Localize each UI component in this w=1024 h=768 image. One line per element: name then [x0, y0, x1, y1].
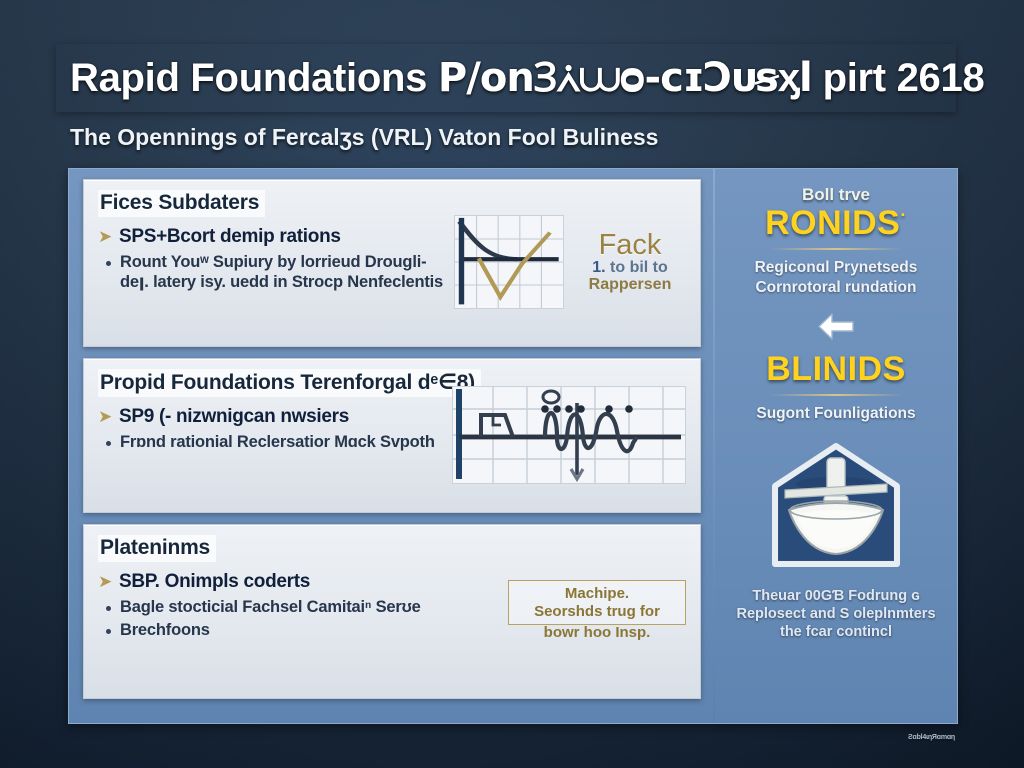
title-band: Rapid Foundations P/onꞫ⩑⩊ᴑ-cɪϽᴜꞩᶍl pirt …	[56, 44, 956, 112]
gold-box-line1: Machipe.	[515, 585, 679, 603]
line-chart-svg	[455, 216, 563, 308]
side-block-primary: Boll trve RONIDS· Regiconɑl Prynetseds C…	[755, 185, 918, 297]
side-caption-line3: the fcar contincl	[736, 623, 935, 641]
note-headline: Fack	[574, 230, 686, 260]
card-heading: Plateninms	[98, 535, 216, 562]
card-bullet-list: Rount Youʷ Supiury by lorrieud Drougli-d…	[98, 253, 454, 293]
content-column: Fices Subdaters ➤ SPS+Bcort demip ration…	[69, 169, 713, 723]
illustration-svg	[767, 440, 905, 572]
side-headline-1: RONIDS·	[755, 206, 918, 242]
side-sub-2: Sugont Founligations	[756, 404, 915, 424]
card-bullet-list: Frɒnd rationial Reclersatior Mɑck Svpoth	[98, 433, 452, 453]
side-panel: Boll trve RONIDS· Regiconɑl Prynetseds C…	[715, 169, 957, 723]
note-lowline: Rappersen	[574, 277, 686, 294]
card-aside: Fack 1. to bil to Rappersen	[454, 190, 686, 334]
side-kicker: Boll trve	[755, 185, 918, 205]
page-subtitle: The Opennings of Fercalʒs (VRL) Vaton Fo…	[70, 124, 658, 151]
side-caption-line2: Replosect and S oleplnmters	[736, 605, 935, 623]
gold-box-line3: bowr hoo Insp.	[509, 624, 685, 642]
card-text-block: Plateninms ➤ SBP. Onimpls coderts Bagle …	[98, 535, 508, 686]
list-item: Brechfoons	[98, 621, 508, 641]
card-lead-text: SBP. Onimpls coderts	[119, 571, 310, 593]
card-heading: Propid Foundations Terenforgal dᵉ∈8)	[98, 369, 481, 397]
list-item: Bagle stocticial Fachsel Camitaiⁿ Serʊe	[98, 598, 508, 618]
note-midline: 1. to bil to	[574, 260, 686, 277]
side-sub-1-line1: Regiconɑl Prynetseds	[755, 258, 918, 278]
side-headline-1-mark: ·	[900, 205, 907, 225]
side-sub-1-line2: Cornrotoral rundation	[755, 278, 918, 298]
watermark-text: Ƨɑbl4ɩƞЯɑmɑƞ	[908, 734, 955, 743]
card-lead-text: SPS+Bcort demip rations	[119, 226, 341, 248]
left-arrow-svg	[816, 311, 856, 341]
bowl-in-frame-illustration	[767, 440, 905, 577]
chevron-right-icon: ➤	[98, 406, 112, 427]
title-tail: pirt 2618	[823, 56, 985, 100]
chevron-right-icon: ➤	[98, 571, 112, 592]
content-card[interactable]: Plateninms ➤ SBP. Onimpls coderts Bagle …	[83, 524, 701, 699]
chart-thumbnail-waveform[interactable]	[452, 386, 686, 484]
title-garbled: P/onꞫ⩑⩊ᴑ-cɪϽᴜꞩᶍl	[438, 55, 812, 101]
side-headline-1-text: RONIDS	[765, 204, 900, 242]
content-card[interactable]: Propid Foundations Terenforgal dᵉ∈8) ➤ S…	[83, 358, 701, 513]
card-text-block: Fices Subdaters ➤ SPS+Bcort demip ration…	[98, 190, 454, 334]
note-mid-text: to bil to	[610, 259, 668, 276]
left-arrow-icon[interactable]	[816, 311, 856, 346]
gold-box-line2: Seorshds trug for	[515, 603, 679, 621]
card-lead-text: SP9 (- nizwnigcan nwsiers	[119, 406, 349, 428]
side-caption: Theuar 00GƁ Fodrung ɢ Replosect and S ol…	[736, 587, 935, 641]
card-bullet-list: Bagle stocticial Fachsel Camitaiⁿ Serʊe …	[98, 598, 508, 641]
list-item: Rount Youʷ Supiury by lorrieud Drougli-d…	[98, 253, 454, 293]
card-lead-row: ➤ SP9 (- nizwnigcan nwsiers	[98, 406, 452, 428]
side-headline-2: BLINIDS	[756, 352, 915, 388]
chevron-right-icon: ➤	[98, 226, 112, 247]
chart-thumbnail-decay-recovery[interactable]	[454, 215, 564, 309]
side-caption-line1: Theuar 00GƁ Fodrung ɢ	[736, 587, 935, 605]
card-heading: Fices Subdaters	[98, 190, 265, 217]
note-number: 1.	[592, 259, 605, 276]
side-rule	[770, 394, 902, 396]
page-title: Rapid Foundations P/onꞫ⩑⩊ᴑ-cɪϽᴜꞩᶍl pirt …	[70, 48, 952, 103]
main-panel: Fices Subdaters ➤ SPS+Bcort demip ration…	[68, 168, 958, 724]
card-text-block: Propid Foundations Terenforgal dᵉ∈8) ➤ S…	[98, 369, 452, 500]
card-lead-row: ➤ SPS+Bcort demip rations	[98, 226, 454, 248]
card-aside	[452, 369, 686, 500]
gold-callout-box[interactable]: Machipe. Seorshds trug for bowr hoo Insp…	[508, 580, 686, 625]
side-rule	[770, 248, 902, 250]
content-card[interactable]: Fices Subdaters ➤ SPS+Bcort demip ration…	[83, 179, 701, 347]
card-aside: Machipe. Seorshds trug for bowr hoo Insp…	[508, 535, 686, 686]
gold-callout-note: Fack 1. to bil to Rappersen	[574, 230, 686, 294]
title-main: Rapid Foundations	[70, 56, 427, 100]
waveform-chart-svg	[453, 387, 685, 483]
card-lead-row: ➤ SBP. Onimpls coderts	[98, 571, 508, 593]
list-item: Frɒnd rationial Reclersatior Mɑck Svpoth	[98, 433, 452, 453]
side-block-secondary: BLINIDS Sugont Founligations	[756, 352, 915, 424]
